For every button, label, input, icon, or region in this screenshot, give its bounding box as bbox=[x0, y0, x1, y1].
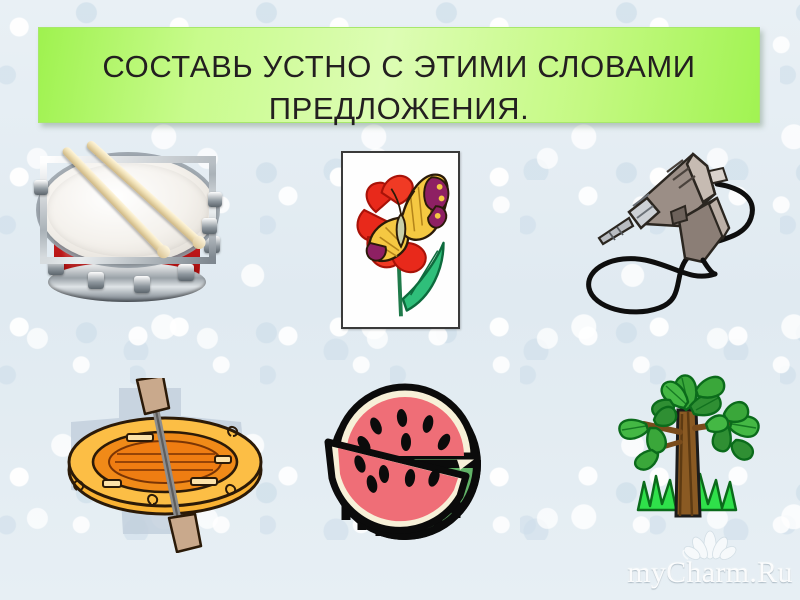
drum-lug bbox=[88, 272, 104, 289]
drum-lug bbox=[48, 258, 64, 275]
page-title: СОСТАВЬ УСТНО С ЭТИМИ СЛОВАМИ ПРЕДЛОЖЕНИ… bbox=[38, 46, 760, 130]
drum-lug bbox=[134, 276, 150, 293]
drum-picture bbox=[22, 140, 242, 325]
butterfly-flower-picture bbox=[341, 151, 460, 329]
watermelon-picture bbox=[310, 378, 500, 543]
butterfly-flower-art bbox=[343, 153, 458, 327]
tree-picture bbox=[600, 370, 775, 530]
drum-lug bbox=[202, 218, 217, 234]
drum-lug bbox=[208, 192, 222, 207]
drum-lug bbox=[178, 264, 194, 281]
drum-lug bbox=[34, 180, 48, 195]
electric-drill-picture bbox=[575, 142, 780, 332]
watermelon-art bbox=[310, 378, 500, 543]
boat-art bbox=[65, 378, 275, 553]
slide-canvas: СОСТАВЬ УСТНО С ЭТИМИ СЛОВАМИ ПРЕДЛОЖЕНИ… bbox=[0, 0, 800, 600]
tree-art bbox=[600, 370, 775, 530]
inflatable-boat-picture bbox=[65, 378, 275, 553]
drill-art bbox=[575, 142, 780, 332]
